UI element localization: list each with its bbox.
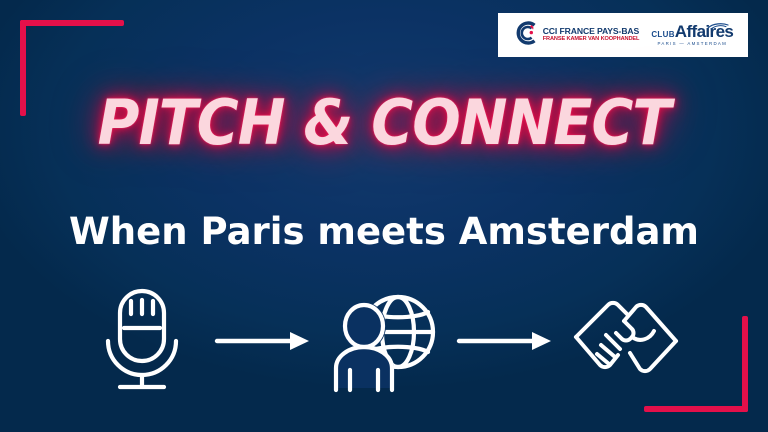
club-affaires-subtitle: PARIS — AMSTERDAM: [658, 42, 728, 46]
club-affaires-club-word: CLUB: [651, 31, 674, 39]
cci-france-pays-bas-logo: CCI FRANCE PAYS-BAS FRANSE KAMER VAN KOO…: [513, 20, 640, 51]
process-flow-row: [0, 283, 768, 403]
logo-bar: CCI FRANCE PAYS-BAS FRANSE KAMER VAN KOO…: [498, 13, 748, 57]
flow-connector-2: [446, 329, 564, 358]
microphone-icon: [94, 285, 190, 402]
club-affaires-wordmark: CLUB Affaires: [651, 23, 733, 40]
corner-bracket-vertical-bar: [20, 20, 26, 116]
arrow-right-icon: [456, 329, 554, 358]
cci-logo-line1: CCI FRANCE PAYS-BAS: [543, 27, 640, 36]
person-globe-icon: [330, 288, 438, 399]
cci-logo-text: CCI FRANCE PAYS-BAS FRANSE KAMER VAN KOO…: [543, 27, 640, 43]
flow-step-handshake: [564, 295, 688, 392]
flow-connector-1: [204, 329, 322, 358]
cci-c-mark-icon: [513, 20, 539, 51]
page-subtitle: When Paris meets Amsterdam: [0, 210, 768, 253]
arrow-right-icon: [214, 329, 312, 358]
slide-canvas: CCI FRANCE PAYS-BAS FRANSE KAMER VAN KOO…: [0, 0, 768, 432]
cci-logo-line2: FRANSE KAMER VAN KOOPHANDEL: [543, 37, 640, 43]
swoosh-icon: [707, 18, 729, 34]
club-affaires-logo: CLUB Affaires PARIS — AMSTERDAM: [651, 23, 733, 46]
page-title: PITCH & CONNECT: [31, 86, 738, 159]
corner-bracket-horizontal-bar: [644, 406, 748, 412]
handshake-icon: [570, 295, 682, 392]
flow-step-person-globe: [322, 288, 446, 399]
flow-step-microphone: [80, 285, 204, 402]
corner-bracket-horizontal-bar: [20, 20, 124, 26]
